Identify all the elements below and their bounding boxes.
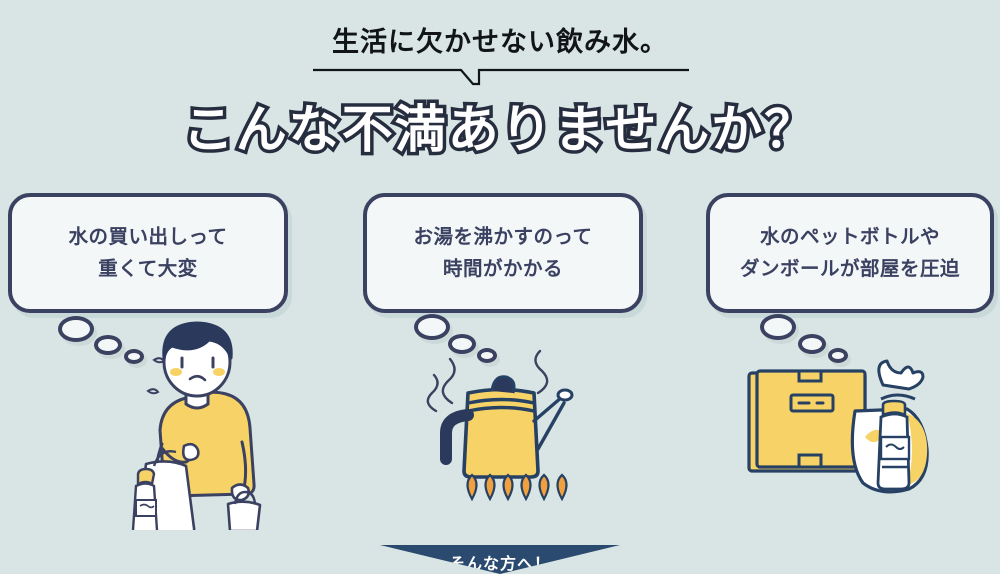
box-and-bottle-bag-icon bbox=[735, 355, 965, 515]
eyebrow-heading: 生活に欠かせない飲み水。 bbox=[0, 26, 1000, 58]
complaint-bubble-1-line2: 重くて大変 bbox=[68, 253, 227, 285]
thought-tail-large-2 bbox=[414, 314, 450, 340]
page-title: こんな不満ありませんか？ bbox=[0, 98, 1000, 162]
thought-tail-medium-3 bbox=[798, 334, 826, 354]
complaint-bubble-2-line1: お湯を沸かすのって bbox=[413, 221, 592, 253]
cta-banner-label: そんな方へ！ bbox=[449, 550, 551, 574]
eyebrow-underline-icon bbox=[313, 66, 689, 88]
thought-tail-large-3 bbox=[760, 314, 796, 340]
cta-banner: そんな方へ！ bbox=[380, 545, 620, 574]
kettle-boiling-icon bbox=[410, 345, 600, 505]
complaint-bubble-2-line2: 時間がかかる bbox=[413, 253, 592, 285]
complaint-bubble-3-line1: 水のペットボトルや bbox=[740, 221, 960, 253]
complaint-bubble-3-line2: ダンボールが部屋を圧迫 bbox=[740, 253, 960, 285]
person-carrying-water-icon bbox=[118, 318, 298, 530]
complaint-bubble-1-line1: 水の買い出しって bbox=[68, 221, 227, 253]
thought-tail-large-1 bbox=[58, 316, 94, 342]
complaint-bubble-3: 水のペットボトルや ダンボールが部屋を圧迫 bbox=[706, 193, 994, 313]
complaint-bubble-1: 水の買い出しって 重くて大変 bbox=[8, 193, 288, 313]
complaint-bubble-2: お湯を沸かすのって 時間がかかる bbox=[363, 193, 643, 313]
landing-hero-section: 生活に欠かせない飲み水。 こんな不満ありませんか？ 水の買い出しって 重くて大変… bbox=[0, 0, 1000, 574]
